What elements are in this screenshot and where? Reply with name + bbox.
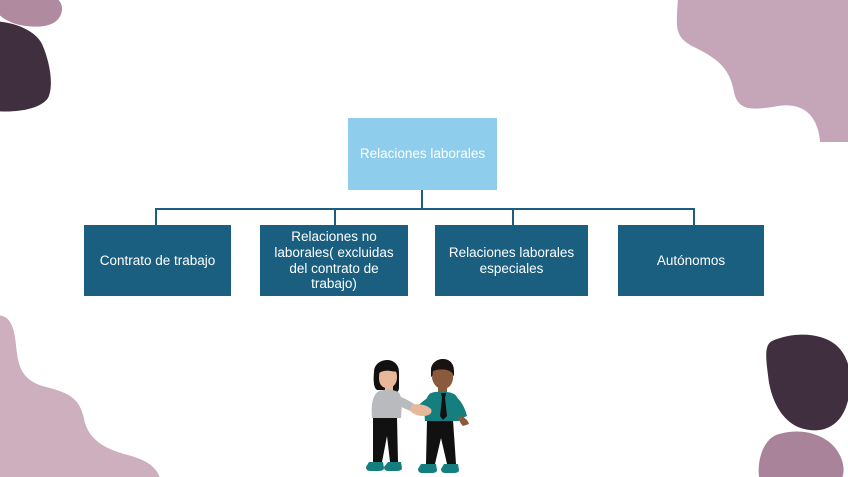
man-shoe-left <box>418 464 437 473</box>
man-hand-right <box>458 416 469 426</box>
diagram-child-label: Relaciones no laborales( excluidas del c… <box>266 229 402 292</box>
diagram-child-node-contrato-de-trabajo[interactable]: Contrato de trabajo <box>84 225 231 296</box>
connector-drop-1 <box>155 208 157 225</box>
man-shoe-right <box>441 464 459 473</box>
woman-shoe-right <box>384 462 402 471</box>
connector-drop-4 <box>693 208 695 225</box>
connector-horizontal-bus <box>155 208 695 210</box>
man-face <box>432 369 453 389</box>
handshake-illustration <box>357 358 469 477</box>
diagram-root-label: Relaciones laborales <box>360 146 485 162</box>
woman-trousers <box>373 417 398 462</box>
woman-shoe-left <box>366 462 384 471</box>
diagram-root-node[interactable]: Relaciones laborales <box>348 118 497 190</box>
woman-blouse <box>372 390 402 418</box>
diagram-child-node-autonomos[interactable]: Autónomos <box>618 225 764 296</box>
diagram-child-label: Autónomos <box>657 253 725 269</box>
diagram-child-label: Contrato de trabajo <box>100 253 216 269</box>
connector-drop-3 <box>512 208 514 225</box>
connector-root-stem <box>421 190 423 210</box>
slide-canvas: Relaciones laborales Contrato de trabajo… <box>0 0 848 477</box>
diagram-child-label: Relaciones laborales especiales <box>441 245 582 277</box>
connector-drop-2 <box>334 208 336 225</box>
diagram-child-node-relaciones-laborales-especiales[interactable]: Relaciones laborales especiales <box>435 225 588 296</box>
diagram-child-node-relaciones-no-laborales[interactable]: Relaciones no laborales( excluidas del c… <box>260 225 408 296</box>
man-trousers <box>426 420 456 464</box>
